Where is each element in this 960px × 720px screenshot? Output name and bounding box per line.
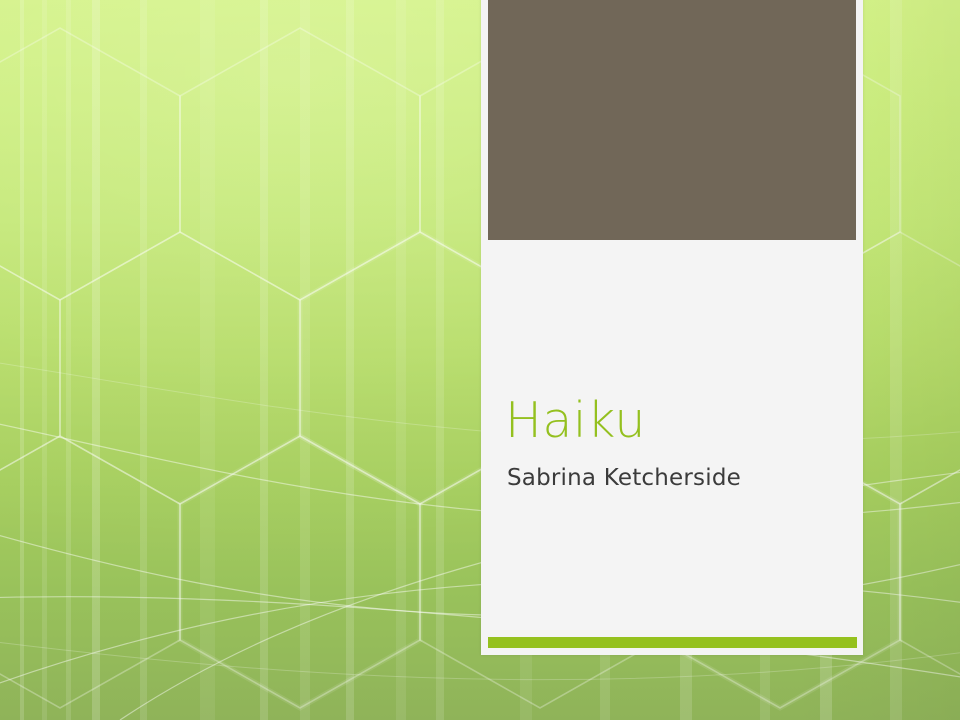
accent-bar — [488, 637, 857, 648]
page-title[interactable]: Haiku — [505, 392, 855, 450]
slide-subtitle[interactable]: Sabrina Ketcherside — [507, 464, 855, 492]
presentation-slide: Haiku Sabrina Ketcherside — [0, 0, 960, 720]
picture-placeholder[interactable] — [488, 0, 856, 240]
title-text-block: Haiku Sabrina Ketcherside — [505, 392, 855, 492]
